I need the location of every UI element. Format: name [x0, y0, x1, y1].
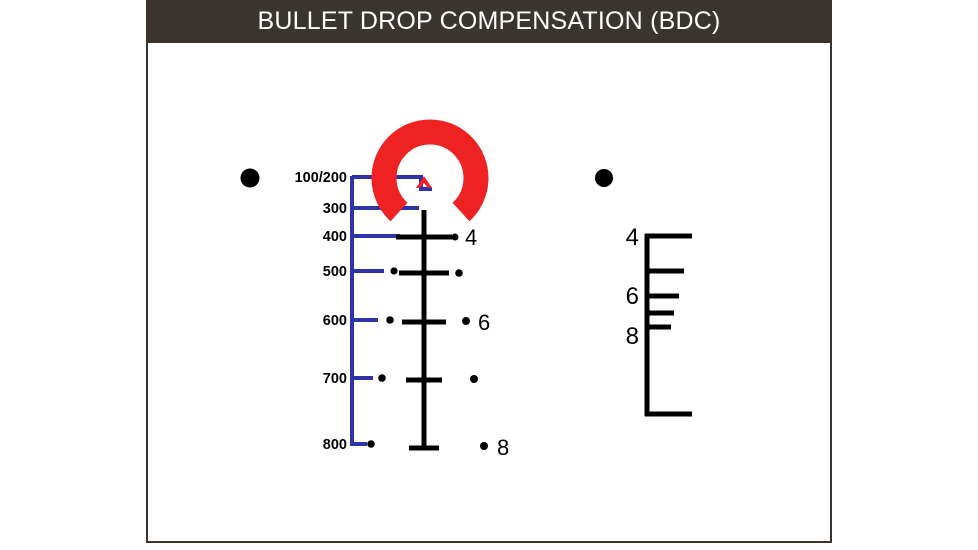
header-bar: BULLET DROP COMPENSATION (BDC)	[146, 0, 832, 43]
page-title: BULLET DROP COMPENSATION (BDC)	[257, 7, 720, 36]
reticle-panel	[146, 43, 832, 543]
bdc-reticle-page: BULLET DROP COMPENSATION (BDC)	[0, 0, 978, 550]
